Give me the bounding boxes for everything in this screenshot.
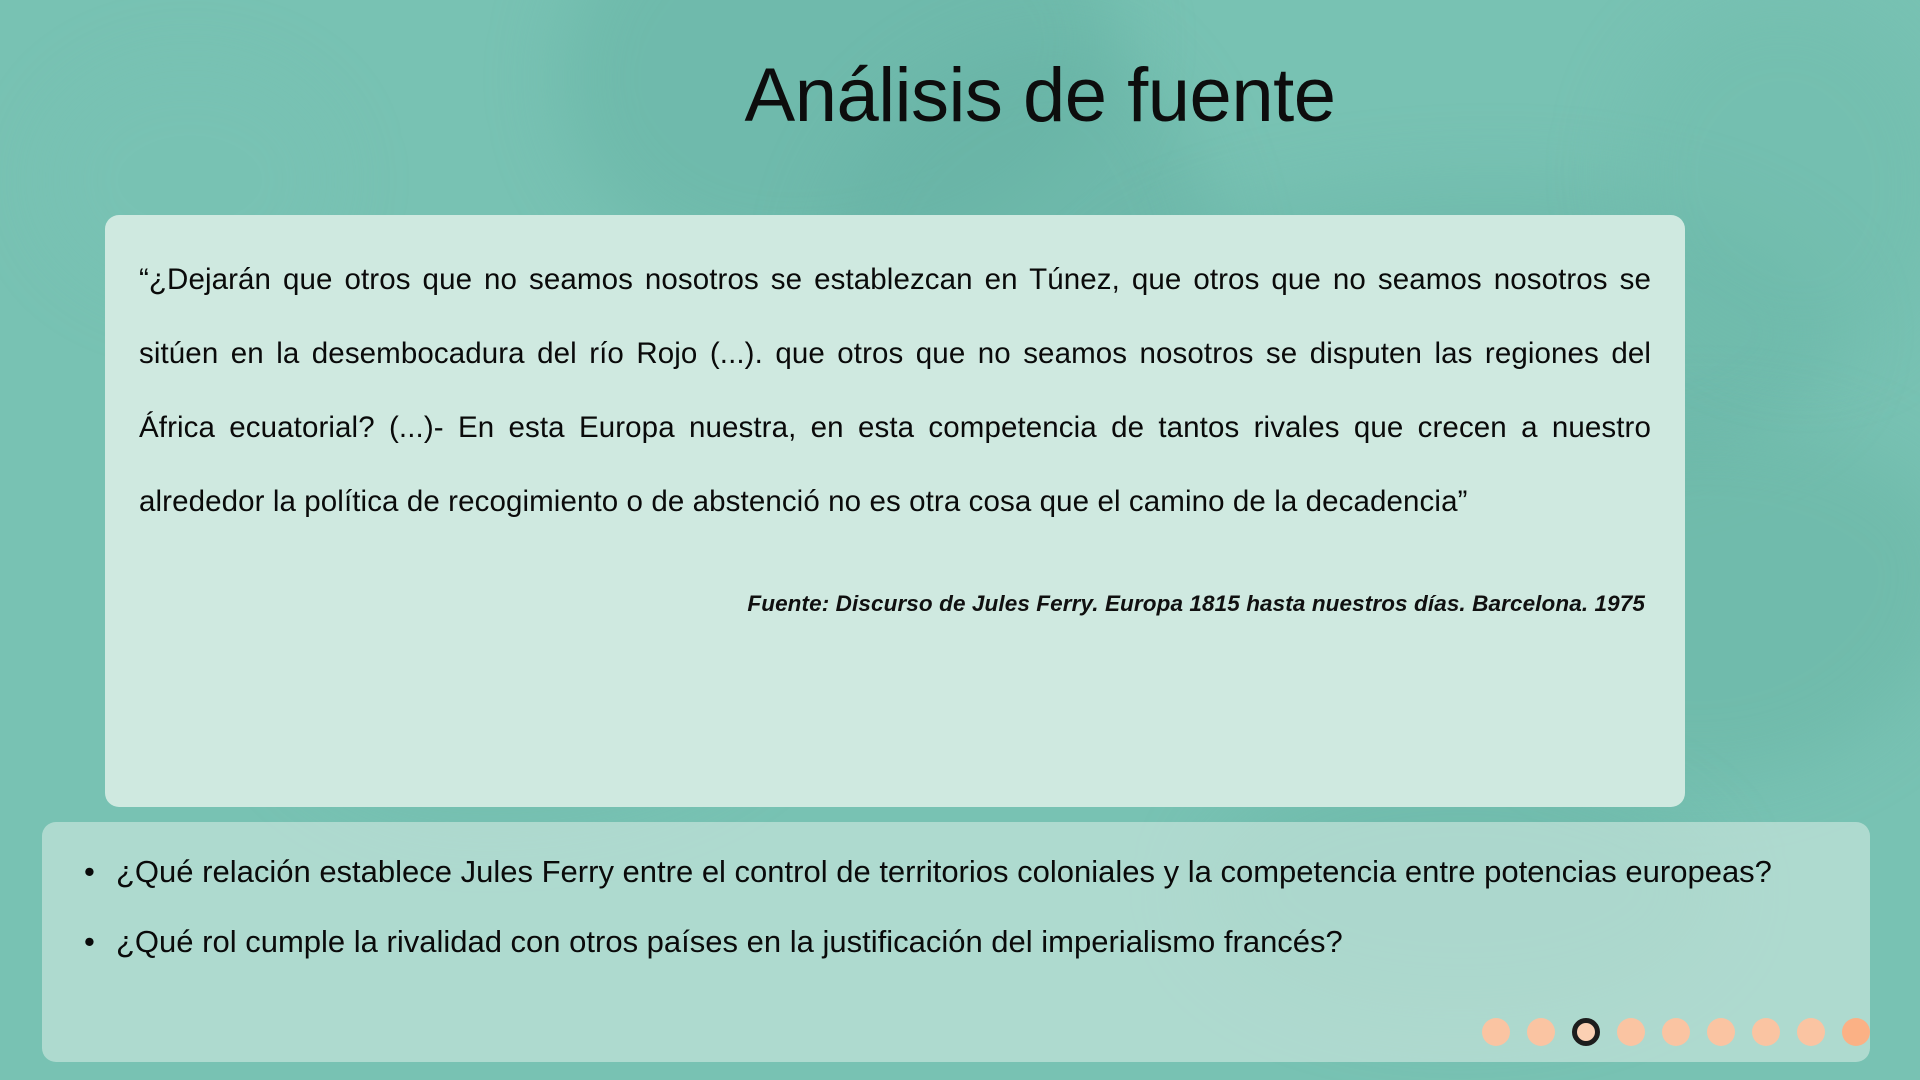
slide-title: Análisis de fuente	[0, 56, 1920, 136]
quote-text: “¿Dejarán que otros que no seamos nosotr…	[139, 243, 1651, 539]
pagination-dot-7[interactable]	[1752, 1018, 1780, 1046]
question-text: ¿Qué relación establece Jules Ferry entr…	[116, 854, 1772, 889]
list-item: • ¿Qué rol cumple la rivalidad con otros…	[76, 910, 1836, 974]
list-item: • ¿Qué relación establece Jules Ferry en…	[76, 840, 1836, 904]
pagination-dot-6[interactable]	[1707, 1018, 1735, 1046]
pagination-dot-4[interactable]	[1617, 1018, 1645, 1046]
pagination-dots[interactable]	[1482, 1018, 1870, 1046]
pagination-dot-2[interactable]	[1527, 1018, 1555, 1046]
quote-card: “¿Dejarán que otros que no seamos nosotr…	[105, 215, 1685, 807]
slide-root: Análisis de fuente “¿Dejarán que otros q…	[0, 0, 1920, 1080]
pagination-dot-5[interactable]	[1662, 1018, 1690, 1046]
quote-source-attribution: Fuente: Discurso de Jules Ferry. Europa …	[139, 591, 1651, 617]
bullet-icon: •	[84, 910, 95, 974]
questions-list: • ¿Qué relación establece Jules Ferry en…	[76, 840, 1836, 974]
pagination-dot-8[interactable]	[1797, 1018, 1825, 1046]
pagination-dot-1[interactable]	[1482, 1018, 1510, 1046]
question-text: ¿Qué rol cumple la rivalidad con otros p…	[116, 924, 1343, 959]
pagination-dot-9[interactable]	[1842, 1018, 1870, 1046]
pagination-dot-3-active[interactable]	[1572, 1018, 1600, 1046]
bullet-icon: •	[84, 840, 95, 904]
